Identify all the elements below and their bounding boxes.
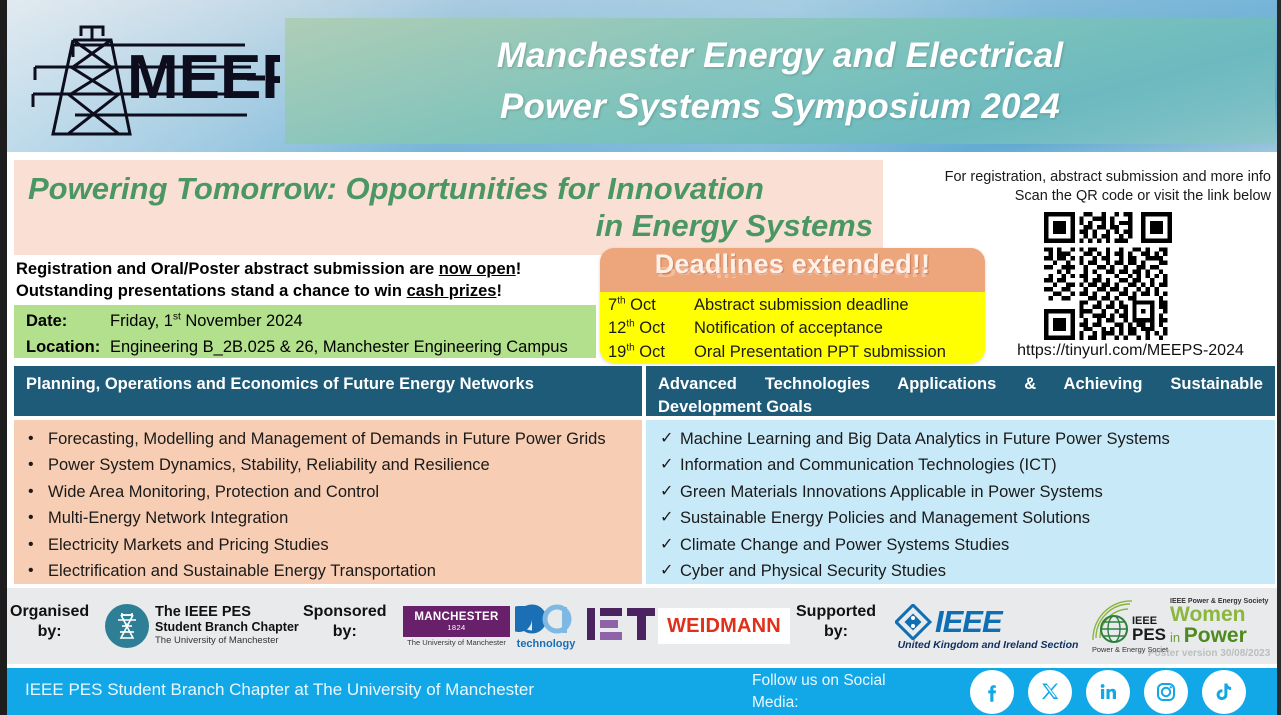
bullet-icon: • <box>28 452 48 478</box>
list-item: •Wide Area Monitoring, Protection and Co… <box>28 479 634 505</box>
list-item-label: Cyber and Physical Security Studies <box>680 558 946 584</box>
deadline-ordinal: th <box>626 319 634 330</box>
date-label: Date: <box>26 309 110 335</box>
ea-technology-logo: technology <box>515 602 577 652</box>
deadline-row: 19th Oct Oral Presentation PPT submissio… <box>608 341 985 363</box>
reg-line1-post: ! <box>516 260 522 278</box>
deadline-month: Oct <box>635 319 665 337</box>
date-ordinal: st <box>173 312 181 323</box>
page-border-right <box>1277 0 1281 715</box>
location-value: Engineering B_2B.025 & 26, Manchester En… <box>110 335 568 361</box>
check-icon: ✓ <box>660 558 680 584</box>
facebook-icon[interactable] <box>970 670 1014 714</box>
deadline-ordinal: th <box>617 296 625 307</box>
deadlines-banner-reflection: Deadlines extended!! <box>600 263 985 280</box>
linkedin-icon[interactable] <box>1086 670 1130 714</box>
bullet-icon: • <box>28 479 48 505</box>
deadlines-panel: Deadlines extended!! Deadlines extended!… <box>600 248 985 363</box>
list-item: •Electricity Markets and Pricing Studies <box>28 532 634 558</box>
registration-note-line-2: Outstanding presentations stand a chance… <box>16 280 606 302</box>
tiktok-icon[interactable] <box>1202 670 1246 714</box>
topic-heading-right-line-2: Development Goals <box>658 396 1263 419</box>
topic-heading-right-line-1: Advanced Technologies Applications & Ach… <box>658 373 1263 396</box>
date-value-post: November 2024 <box>181 312 303 330</box>
title-line-1: Manchester Energy and Electrical <box>497 38 1064 73</box>
page-border-left <box>0 0 7 715</box>
list-item-label: Wide Area Monitoring, Protection and Con… <box>48 479 379 505</box>
location-label: Location: <box>26 335 110 361</box>
qr-block: For registration, abstract submission an… <box>940 168 1275 360</box>
instagram-icon[interactable] <box>1144 670 1188 714</box>
supported-by-line-1: Supported <box>796 603 876 620</box>
registration-link[interactable]: https://tinyurl.com/MEEPS-2024 <box>940 342 1275 360</box>
x-icon[interactable] <box>1028 670 1072 714</box>
follow-us-label: Follow us on Social Media: <box>752 670 902 715</box>
subtitle-box: Powering Tomorrow: Opportunities for Inn… <box>14 160 883 255</box>
bullet-icon: • <box>28 558 48 584</box>
deadline-day: 7 <box>608 296 617 314</box>
ieee-wordmark: IEEE <box>935 604 1002 640</box>
event-details-box: Date: Friday, 1st November 2024 Location… <box>14 305 596 358</box>
list-item-label: Multi-Energy Network Integration <box>48 505 288 531</box>
poster-version-note: Poster version 30/08/2023 <box>1148 648 1270 659</box>
topic-heading-right: Advanced Technologies Applications & Ach… <box>646 366 1275 416</box>
deadlines-banner: Deadlines extended!! Deadlines extended!… <box>600 248 985 292</box>
check-icon: ✓ <box>660 479 680 505</box>
pes-circle-pes: PES <box>1132 625 1166 644</box>
list-item: •Forecasting, Modelling and Management o… <box>28 426 634 452</box>
ea-technology-subtitle: technology <box>515 638 577 650</box>
qr-instruction-line-2: Scan the QR code or visit the link below <box>940 187 1275 206</box>
list-item-label: Machine Learning and Big Data Analytics … <box>680 426 1170 452</box>
wip-power: Power <box>1184 624 1247 647</box>
list-item: •Electrification and Sustainable Energy … <box>28 558 634 584</box>
deadline-date: 12th Oct <box>608 317 694 340</box>
supported-by-label: Supported by: <box>796 602 876 642</box>
cash-prizes-emphasis: cash prizes <box>407 282 497 300</box>
weidmann-logo: WEIDMANN <box>658 608 790 644</box>
organised-by-line-1: Organised <box>10 603 89 620</box>
now-open-emphasis: now open <box>439 260 516 278</box>
wip-in-power: in Power <box>1170 625 1278 646</box>
list-item: •Power System Dynamics, Stability, Relia… <box>28 452 634 478</box>
registration-note-line-1: Registration and Oral/Poster abstract su… <box>16 258 606 280</box>
poster-header: MEEPS Manchester Energy and Electrical P… <box>7 0 1281 152</box>
meeps-poster: MEEPS Manchester Energy and Electrical P… <box>0 0 1281 715</box>
list-item: ✓Machine Learning and Big Data Analytics… <box>660 426 1267 452</box>
list-item: ✓Information and Communication Technolog… <box>660 452 1267 478</box>
deadline-description: Oral Presentation PPT submission <box>694 341 946 363</box>
sponsored-by-label: Sponsored by: <box>303 602 387 642</box>
deadline-ordinal: th <box>626 342 634 353</box>
follow-us-line-2: Media: <box>752 692 902 714</box>
list-item-label: Electricity Markets and Pricing Studies <box>48 532 329 558</box>
bottom-bar: IEEE PES Student Branch Chapter at The U… <box>7 668 1281 715</box>
list-item: ✓Climate Change and Power Systems Studie… <box>660 532 1267 558</box>
deadline-row: 12th Oct Notification of acceptance <box>608 317 985 340</box>
topic-heading-left: Planning, Operations and Economics of Fu… <box>14 366 642 416</box>
supported-by-line-2: by: <box>796 622 876 642</box>
event-location-row: Location: Engineering B_2B.025 & 26, Man… <box>26 335 596 361</box>
reg-line1-pre: Registration and Oral/Poster abstract su… <box>16 260 439 278</box>
list-item-label: Climate Change and Power Systems Studies <box>680 532 1009 558</box>
list-item-label: Electrification and Sustainable Energy T… <box>48 558 436 584</box>
iet-logo <box>587 606 655 646</box>
list-item: ✓Green Materials Innovations Applicable … <box>660 479 1267 505</box>
list-item-label: Information and Communication Technologi… <box>680 452 1057 478</box>
list-item-label: Forecasting, Modelling and Management of… <box>48 426 606 452</box>
uom-year: 1824 <box>447 623 465 632</box>
list-item-label: Power System Dynamics, Stability, Reliab… <box>48 452 490 478</box>
topic-list-left: •Forecasting, Modelling and Management o… <box>14 420 642 584</box>
uom-subtitle: The University of Manchester <box>403 638 510 647</box>
chapter-footer-text: IEEE PES Student Branch Chapter at The U… <box>25 680 534 700</box>
uom-name: MANCHESTER <box>414 611 498 623</box>
follow-us-line-1: Follow us on Social <box>752 670 902 692</box>
qr-code-image[interactable] <box>1044 212 1172 340</box>
ieee-uki-mark: IEEE <box>895 604 1081 640</box>
ieee-pes-line-1: The IEEE PES <box>155 604 299 620</box>
women-in-power-logo: IEEE Power & Energy Society Women in Pow… <box>1170 598 1278 646</box>
weidmann-wordmark: WEIDMANN <box>667 615 781 638</box>
wip-women: Women <box>1170 605 1278 625</box>
deadlines-list: 7th Oct Abstract submission deadline 12t… <box>600 292 985 363</box>
ieee-pes-line-2: Student Branch Chapter <box>155 620 299 635</box>
topic-list-right: ✓Machine Learning and Big Data Analytics… <box>646 420 1275 584</box>
list-item-label: Green Materials Innovations Applicable i… <box>680 479 1103 505</box>
ieee-pes-line-3: The University of Manchester <box>155 635 299 647</box>
check-icon: ✓ <box>660 426 680 452</box>
ieee-diamond-icon <box>895 604 935 640</box>
deadline-row: 7th Oct Abstract submission deadline <box>608 294 985 317</box>
deadline-date: 7th Oct <box>608 294 694 317</box>
wip-in: in <box>1170 630 1184 645</box>
deadline-month: Oct <box>635 343 665 361</box>
deadline-date: 19th Oct <box>608 341 694 363</box>
list-item-label: Sustainable Energy Policies and Manageme… <box>680 505 1090 531</box>
ieee-pes-pylon-icon <box>105 604 149 648</box>
ieee-uki-section-logo: IEEE United Kingdom and Ireland Section <box>895 604 1081 650</box>
ieee-uki-subtitle: United Kingdom and Ireland Section <box>895 639 1081 651</box>
check-icon: ✓ <box>660 532 680 558</box>
uom-wordmark: MANCHESTER 1824 <box>403 606 510 637</box>
subtitle-line-2: in Energy Systems <box>14 208 873 245</box>
list-item: ✓Cyber and Physical Security Studies <box>660 558 1267 584</box>
deadline-description: Notification of acceptance <box>694 317 883 340</box>
event-date-row: Date: Friday, 1st November 2024 <box>26 309 596 335</box>
list-item: •Multi-Energy Network Integration <box>28 505 634 531</box>
bullet-icon: • <box>28 505 48 531</box>
sponsored-by-line-2: by: <box>303 622 387 642</box>
list-item: ✓Sustainable Energy Policies and Managem… <box>660 505 1267 531</box>
sponsored-by-line-1: Sponsored <box>303 603 387 620</box>
check-icon: ✓ <box>660 452 680 478</box>
deadline-day: 12 <box>608 319 626 337</box>
organised-by-line-2: by: <box>10 622 89 642</box>
bullet-icon: • <box>28 426 48 452</box>
deadline-month: Oct <box>626 296 656 314</box>
reg-line2-pre: Outstanding presentations stand a chance… <box>16 282 407 300</box>
deadline-day: 19 <box>608 343 626 361</box>
deadline-description: Abstract submission deadline <box>694 294 909 317</box>
organised-by-label: Organised by: <box>10 602 89 642</box>
meeps-logo: MEEPS <box>15 12 280 142</box>
qr-instruction-line-1: For registration, abstract submission an… <box>940 168 1275 187</box>
subtitle-line-1: Powering Tomorrow: Opportunities for Inn… <box>14 171 873 208</box>
social-links <box>970 670 1246 714</box>
ieee-pes-chapter-text: The IEEE PES Student Branch Chapter The … <box>155 604 299 647</box>
reg-line2-post: ! <box>496 282 502 300</box>
bullet-icon: • <box>28 532 48 558</box>
date-value: Friday, 1st November 2024 <box>110 309 303 335</box>
university-of-manchester-logo: MANCHESTER 1824 The University of Manche… <box>403 606 510 650</box>
date-value-pre: Friday, 1 <box>110 312 173 330</box>
title-line-2: Power Systems Symposium 2024 <box>500 89 1060 124</box>
check-icon: ✓ <box>660 505 680 531</box>
registration-note: Registration and Oral/Poster abstract su… <box>16 258 606 302</box>
symposium-title-band: Manchester Energy and Electrical Power S… <box>285 18 1275 144</box>
